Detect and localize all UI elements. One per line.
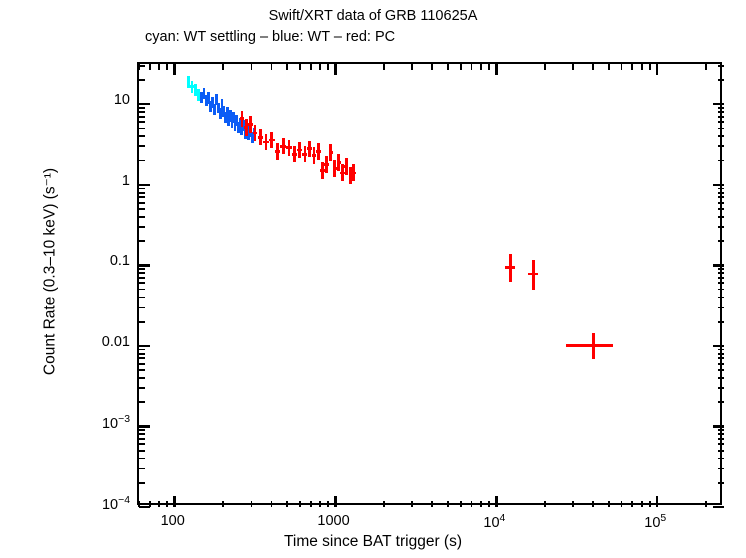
tick-mark <box>718 116 724 118</box>
tick-mark <box>718 387 724 389</box>
errorbar-y <box>270 132 273 148</box>
errorbar-y <box>308 141 311 157</box>
tick-mark <box>299 64 301 70</box>
errorbar-y <box>325 156 328 173</box>
tick-mark <box>718 277 724 279</box>
tick-mark <box>411 501 413 507</box>
tick-mark <box>718 145 724 147</box>
tick-mark <box>139 145 145 147</box>
tick-mark <box>411 64 413 70</box>
y-tick-label: 1 <box>10 173 130 189</box>
tick-mark <box>139 277 145 279</box>
tick-mark <box>139 377 145 379</box>
tick-mark <box>713 184 724 186</box>
tick-mark <box>718 272 724 274</box>
tick-mark <box>139 160 145 162</box>
tick-mark <box>621 501 623 507</box>
y-axis-title: Count Rate (0.3–10 keV) (s⁻¹) <box>41 42 60 502</box>
tick-mark <box>718 282 724 284</box>
tick-mark <box>139 192 145 194</box>
tick-mark <box>139 349 145 351</box>
tick-mark <box>460 64 462 70</box>
tick-mark <box>139 268 145 270</box>
tick-mark <box>158 64 160 70</box>
x-tick-label: 100 <box>113 513 233 529</box>
tick-mark <box>139 184 150 186</box>
tick-mark <box>139 79 145 81</box>
tick-mark <box>718 268 724 270</box>
tick-mark <box>718 128 724 130</box>
tick-mark <box>139 425 150 427</box>
tick-mark <box>713 425 724 427</box>
tick-mark <box>327 64 329 70</box>
x-tick-label: 1000 <box>274 513 394 529</box>
errorbar-x <box>566 344 613 347</box>
x-tick-label: 104 <box>434 513 554 531</box>
tick-mark <box>139 208 145 210</box>
tick-mark <box>718 240 724 242</box>
tick-mark <box>447 501 449 507</box>
tick-mark <box>718 79 724 81</box>
tick-mark <box>718 160 724 162</box>
tick-mark <box>718 429 724 431</box>
tick-mark <box>718 111 724 113</box>
errorbar-y <box>254 125 257 141</box>
tick-mark <box>383 501 385 507</box>
tick-mark <box>334 64 336 75</box>
tick-mark <box>718 289 724 291</box>
tick-mark <box>139 363 145 365</box>
tick-mark <box>495 496 497 507</box>
tick-mark <box>488 64 490 70</box>
tick-mark <box>718 196 724 198</box>
tick-mark <box>139 188 145 190</box>
tick-mark <box>166 64 168 70</box>
tick-mark <box>166 501 168 507</box>
tick-mark <box>718 192 724 194</box>
tick-mark <box>544 501 546 507</box>
tick-mark <box>139 264 150 266</box>
tick-mark <box>286 501 288 507</box>
tick-mark <box>139 443 145 445</box>
tick-mark <box>139 321 145 323</box>
tick-mark <box>705 64 707 70</box>
errorbar-y <box>509 254 512 282</box>
tick-mark <box>718 369 724 371</box>
tick-mark <box>631 501 633 507</box>
x-axis-title: Time since BAT trigger (s) <box>0 533 746 551</box>
tick-mark <box>649 501 651 507</box>
tick-mark <box>608 501 610 507</box>
tick-mark <box>621 64 623 70</box>
errorbar-y <box>245 119 248 136</box>
tick-mark <box>139 128 145 130</box>
tick-mark <box>173 64 175 75</box>
errorbar-y <box>282 138 285 154</box>
tick-mark <box>718 353 724 355</box>
errorbar-y <box>259 129 262 145</box>
tick-mark <box>383 64 385 70</box>
data-canvas <box>139 64 724 507</box>
tick-mark <box>718 401 724 403</box>
tick-mark <box>460 501 462 507</box>
tick-mark <box>149 64 151 70</box>
tick-mark <box>139 307 145 309</box>
tick-mark <box>713 506 724 508</box>
y-tick-label: 10−4 <box>10 495 130 513</box>
tick-mark <box>718 363 724 365</box>
tick-mark <box>251 501 253 507</box>
y-tick-label: 10−3 <box>10 414 130 432</box>
tick-mark <box>139 135 145 137</box>
tick-mark <box>319 501 321 507</box>
tick-mark <box>718 216 724 218</box>
tick-mark <box>431 501 433 507</box>
tick-mark <box>641 64 643 70</box>
tick-mark <box>713 345 724 347</box>
tick-mark <box>705 501 707 507</box>
tick-mark <box>447 64 449 70</box>
plot-title: Swift/XRT data of GRB 110625A <box>0 8 746 24</box>
tick-mark <box>139 289 145 291</box>
tick-mark <box>299 501 301 507</box>
tick-mark <box>656 496 658 507</box>
errorbar-y <box>532 260 535 290</box>
tick-mark <box>222 501 224 507</box>
figure-root: Swift/XRT data of GRB 110625A cyan: WT s… <box>0 0 746 558</box>
errorbar-y <box>298 142 301 158</box>
tick-mark <box>488 501 490 507</box>
tick-mark <box>718 297 724 299</box>
tick-mark <box>718 349 724 351</box>
tick-mark <box>718 321 724 323</box>
errorbar-y <box>337 154 340 171</box>
plot-subtitle-legend: cyan: WT settling – blue: WT – red: PC <box>145 29 395 45</box>
errorbar-y <box>213 104 216 115</box>
errorbar-y <box>288 140 291 156</box>
errorbar-y <box>241 111 244 127</box>
tick-mark <box>718 458 724 460</box>
tick-mark <box>718 450 724 452</box>
tick-mark <box>139 369 145 371</box>
tick-mark <box>139 272 145 274</box>
errorbar-y <box>276 143 279 160</box>
tick-mark <box>592 64 594 70</box>
tick-mark <box>139 297 145 299</box>
tick-mark <box>139 103 150 105</box>
tick-mark <box>718 208 724 210</box>
tick-mark <box>656 64 658 75</box>
errorbar-y <box>352 164 355 181</box>
tick-mark <box>139 116 145 118</box>
tick-mark <box>139 357 145 359</box>
tick-mark <box>649 64 651 70</box>
tick-mark <box>718 468 724 470</box>
tick-mark <box>327 501 329 507</box>
tick-mark <box>139 282 145 284</box>
tick-mark <box>286 64 288 70</box>
tick-mark <box>319 64 321 70</box>
tick-mark <box>139 65 145 67</box>
y-tick-label: 0.1 <box>10 253 130 269</box>
tick-mark <box>334 496 336 507</box>
tick-mark <box>158 501 160 507</box>
tick-mark <box>139 450 145 452</box>
tick-mark <box>139 387 145 389</box>
tick-mark <box>572 64 574 70</box>
plot-area <box>137 62 722 505</box>
errorbar-y <box>304 146 307 162</box>
tick-mark <box>480 64 482 70</box>
tick-mark <box>310 64 312 70</box>
tick-mark <box>471 501 473 507</box>
tick-mark <box>718 377 724 379</box>
tick-mark <box>139 240 145 242</box>
tick-mark <box>495 64 497 75</box>
errorbar-y <box>329 144 332 161</box>
tick-mark <box>310 501 312 507</box>
tick-mark <box>471 64 473 70</box>
errorbar-y <box>293 146 296 163</box>
y-tick-label: 0.01 <box>10 334 130 350</box>
tick-mark <box>718 135 724 137</box>
tick-mark <box>718 433 724 435</box>
tick-mark <box>572 501 574 507</box>
tick-mark <box>431 64 433 70</box>
tick-mark <box>139 121 145 123</box>
errorbar-y <box>345 158 348 176</box>
tick-mark <box>139 226 145 228</box>
tick-mark <box>718 107 724 109</box>
tick-mark <box>718 482 724 484</box>
tick-mark <box>718 357 724 359</box>
tick-mark <box>592 501 594 507</box>
tick-mark <box>139 353 145 355</box>
tick-mark <box>718 443 724 445</box>
tick-mark <box>139 482 145 484</box>
tick-mark <box>271 64 273 70</box>
tick-mark <box>713 103 724 105</box>
tick-mark <box>139 468 145 470</box>
tick-mark <box>718 121 724 123</box>
tick-mark <box>139 429 145 431</box>
tick-mark <box>139 111 145 113</box>
tick-mark <box>173 496 175 507</box>
tick-mark <box>718 438 724 440</box>
tick-mark <box>139 438 145 440</box>
tick-mark <box>139 196 145 198</box>
y-tick-label: 10 <box>10 92 130 108</box>
tick-mark <box>718 65 724 67</box>
errorbar-y <box>592 333 595 359</box>
tick-mark <box>139 506 150 508</box>
tick-mark <box>139 458 145 460</box>
tick-mark <box>139 202 145 204</box>
tick-mark <box>631 64 633 70</box>
x-tick-label: 105 <box>595 513 715 531</box>
tick-mark <box>480 501 482 507</box>
tick-mark <box>139 401 145 403</box>
tick-mark <box>718 307 724 309</box>
tick-mark <box>713 264 724 266</box>
tick-mark <box>608 64 610 70</box>
tick-mark <box>139 216 145 218</box>
errorbar-y <box>249 116 252 133</box>
tick-mark <box>139 107 145 109</box>
tick-mark <box>139 345 150 347</box>
tick-mark <box>718 188 724 190</box>
tick-mark <box>139 433 145 435</box>
tick-mark <box>271 501 273 507</box>
tick-mark <box>641 501 643 507</box>
tick-mark <box>251 64 253 70</box>
tick-mark <box>718 202 724 204</box>
errorbar-y <box>265 134 268 150</box>
tick-mark <box>544 64 546 70</box>
tick-mark <box>222 64 224 70</box>
errorbar-y <box>317 143 320 159</box>
tick-mark <box>718 226 724 228</box>
